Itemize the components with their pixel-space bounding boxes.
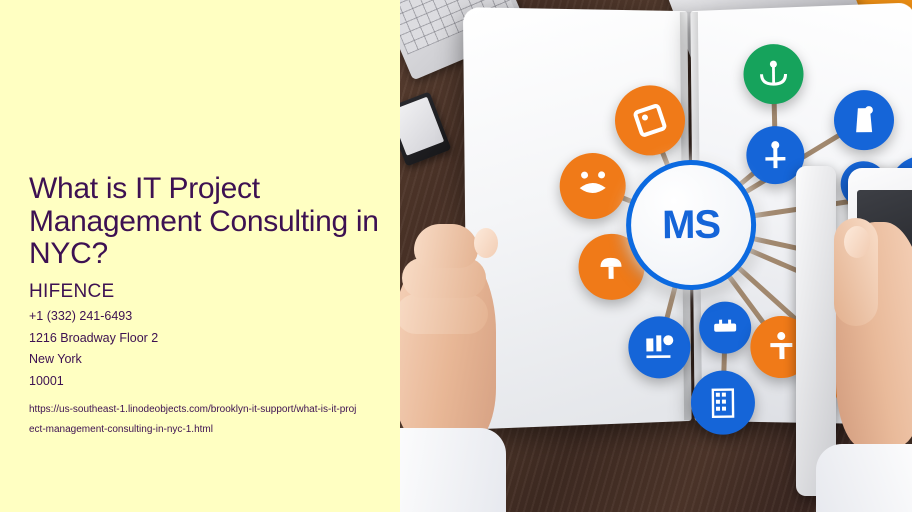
text-block: What is IT Project Management Consulting… xyxy=(29,173,391,440)
company-phone: +1 (332) 241-6493 xyxy=(29,306,391,328)
hub-node[interactable]: MS xyxy=(625,159,756,290)
left-hand-finger-1 xyxy=(414,224,478,268)
node-blue-document[interactable] xyxy=(628,316,691,379)
slide: What is IT Project Management Consulting… xyxy=(0,0,912,512)
hub-label: MS xyxy=(662,202,720,248)
folder-icon xyxy=(630,100,670,140)
node-blue-person[interactable] xyxy=(834,90,895,151)
node-blue-building[interactable] xyxy=(691,370,756,435)
tool-icon xyxy=(758,138,792,172)
page-title: What is IT Project Management Consulting… xyxy=(29,173,391,271)
text-panel: What is IT Project Management Consulting… xyxy=(0,0,400,512)
company-address-line1: 1216 Broadway Floor 2 xyxy=(29,328,391,350)
company-city: New York xyxy=(29,349,391,371)
user-icon xyxy=(762,328,800,366)
anchor-icon xyxy=(755,56,791,92)
company-zip: 10001 xyxy=(29,371,391,393)
source-url[interactable]: https://us-southeast-1.linodeobjects.com… xyxy=(29,400,359,440)
node-orange-folder[interactable] xyxy=(615,85,686,156)
node-orange-badge[interactable] xyxy=(559,153,626,220)
node-green-anchor[interactable] xyxy=(743,44,804,105)
right-hand xyxy=(828,196,912,512)
document-icon xyxy=(640,328,678,366)
left-hand-finger-3 xyxy=(400,294,488,334)
node-blue-tag[interactable] xyxy=(699,301,752,354)
right-hand-nail xyxy=(844,226,870,258)
right-shirt-cuff xyxy=(816,444,912,512)
badge-icon xyxy=(572,166,612,206)
person-icon xyxy=(846,102,882,138)
photo-panel: MS xyxy=(400,0,912,512)
left-hand-nail xyxy=(474,228,498,258)
company-name: HIFENCE xyxy=(29,281,391,303)
cloud-tree-icon xyxy=(591,247,631,287)
building-icon xyxy=(704,383,742,421)
tag-icon xyxy=(709,311,741,343)
left-hand xyxy=(400,228,504,512)
left-shirt-cuff xyxy=(400,428,506,512)
